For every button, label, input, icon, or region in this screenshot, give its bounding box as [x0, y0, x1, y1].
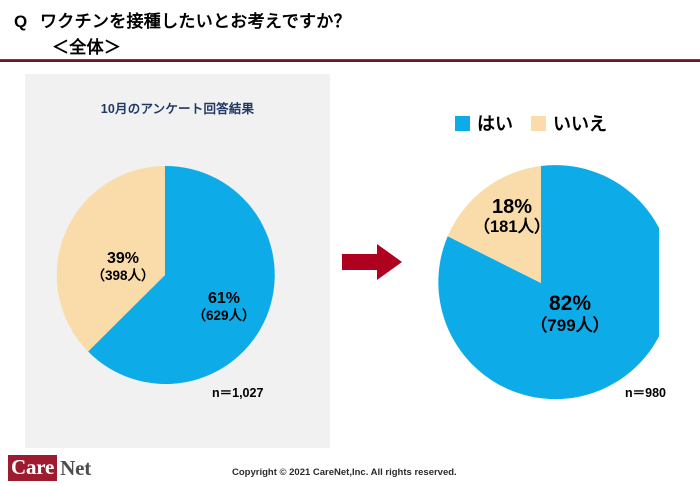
legend-label-yes: はい: [477, 110, 513, 136]
left-pie-label-yes-pct: 61%: [178, 290, 270, 308]
left-pie-label-no-pct: 39%: [78, 250, 168, 268]
title-divider: [0, 59, 700, 62]
right-pie-label-yes-count: （799人）: [515, 316, 625, 335]
left-pie-label-no: 39% （398人）: [78, 250, 168, 283]
right-chart-n-value: n＝980: [625, 382, 666, 401]
left-pie-label-yes: 61% （629人）: [178, 290, 270, 323]
right-arrow-icon: [341, 242, 403, 282]
right-chart-legend: はい いいえ: [455, 110, 670, 136]
question-text: ワクチンを接種したいとお考えですか？: [40, 12, 351, 31]
legend-swatch-yes: [455, 116, 470, 131]
right-pie-label-yes-pct: 82%: [515, 292, 625, 316]
left-pie-label-yes-count: （629人）: [178, 308, 270, 323]
question-prefix: Q: [14, 12, 40, 32]
page-title: Qワクチンを接種したいとお考えですか？: [14, 7, 351, 32]
legend-item-no: いいえ: [531, 110, 607, 136]
logo-net-text: Net: [60, 458, 91, 479]
left-chart-title: 10月のアンケート回答結果: [25, 98, 330, 117]
carenet-logo: Care Net: [8, 455, 91, 481]
right-pie-label-no-pct: 18%: [459, 196, 565, 218]
right-pie-label-yes: 82% （799人）: [515, 292, 625, 335]
copyright-text: Copyright © 2021 CareNet,Inc. All rights…: [232, 467, 457, 478]
left-pie-label-no-count: （398人）: [78, 268, 168, 283]
page-subtitle: ＜全体＞: [52, 33, 121, 58]
right-pie-label-no-count: （181人）: [459, 218, 565, 236]
legend-item-yes: はい: [455, 110, 513, 136]
legend-swatch-no: [531, 116, 546, 131]
slide-title-block: Qワクチンを接種したいとお考えですか？ ＜全体＞: [0, 0, 700, 60]
right-pie-label-no: 18% （181人）: [459, 196, 565, 237]
left-chart-n-value: n＝1,027: [212, 382, 263, 401]
legend-label-no: いいえ: [553, 110, 607, 136]
logo-care-text: Care: [8, 455, 57, 481]
